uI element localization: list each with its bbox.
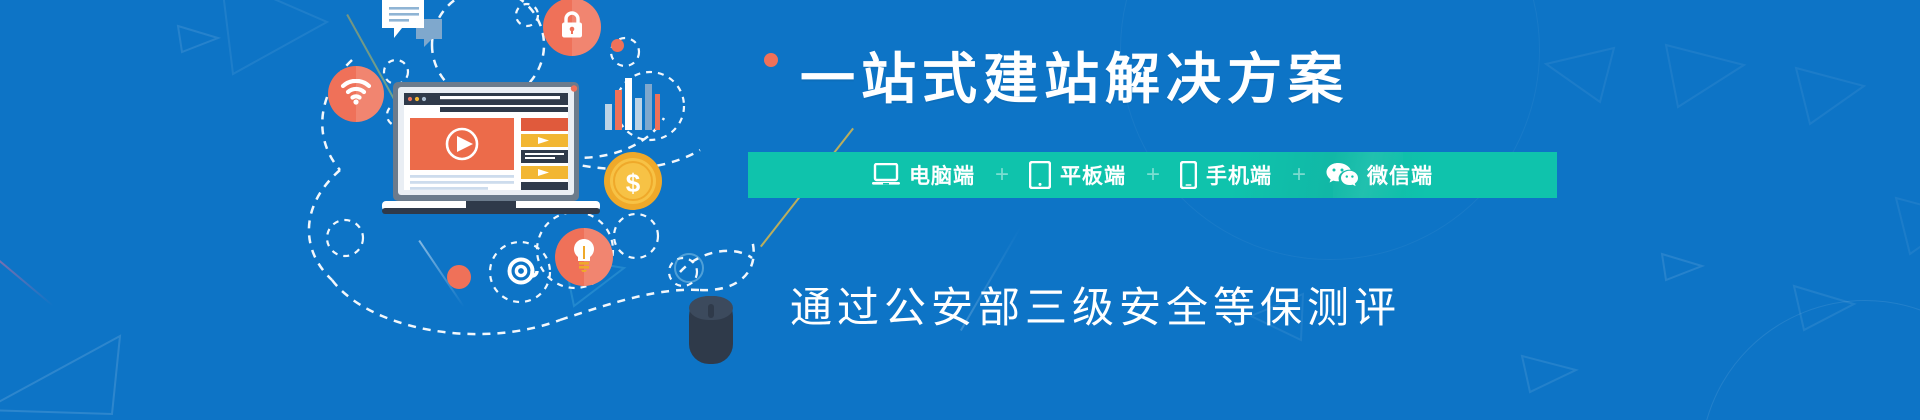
tablet-icon [1029, 161, 1051, 189]
device-label-wechat: 微信端 [1367, 160, 1433, 190]
svg-text:$: $ [626, 168, 641, 198]
page-subtitle: 通过公安部三级安全等保测评 [790, 287, 1401, 329]
device-item-wechat: 微信端 [1314, 160, 1445, 190]
device-label-desktop: 电脑端 [909, 160, 975, 190]
laptop-illustration [382, 82, 600, 218]
device-label-mobile: 手机端 [1206, 160, 1272, 190]
lock-icon [559, 10, 585, 45]
mouse-icon [689, 296, 733, 364]
desktop-icon [872, 163, 900, 187]
mobile-icon [1180, 161, 1197, 189]
wechat-icon [1326, 162, 1358, 188]
device-item-tablet: 平板端 [1017, 160, 1138, 190]
bar-chart-icon [604, 78, 660, 130]
chat-bubble-icon [380, 0, 450, 54]
wifi-icon-badge [328, 66, 384, 122]
coin-dollar-icon: $ [604, 152, 662, 210]
device-item-desktop: 电脑端 [860, 160, 987, 190]
device-support-bar: 电脑端 + 平板端 + [748, 152, 1557, 198]
at-sign-icon [498, 248, 544, 294]
decor-dot [447, 265, 471, 289]
device-label-tablet: 平板端 [1060, 160, 1126, 190]
device-separator: + [1138, 163, 1168, 187]
lock-icon-badge [543, 0, 601, 56]
promo-banner: $ [0, 0, 1920, 420]
device-separator: + [1284, 163, 1314, 187]
decor-dot [611, 39, 624, 52]
lightbulb-icon [571, 238, 597, 277]
page-title: 一站式建站解决方案 [800, 52, 1349, 107]
banner-content: 一站式建站解决方案 电脑端 + [748, 0, 1588, 420]
lightbulb-icon-badge [555, 228, 613, 286]
wifi-icon [340, 79, 372, 110]
device-separator: + [987, 163, 1017, 187]
device-item-mobile: 手机端 [1168, 160, 1284, 190]
